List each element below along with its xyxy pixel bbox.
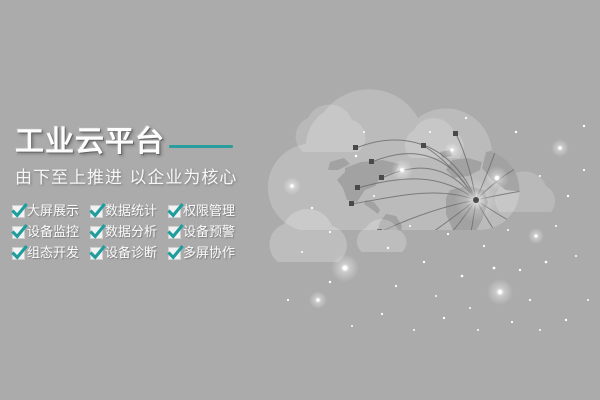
checkmark-icon: [12, 205, 25, 218]
feature-checklist: 大屏展示数据统计权限管理设备监控数据分析设备预警组态开发设备诊断多屏协作: [12, 201, 240, 264]
feature-item[interactable]: 组态开发: [12, 243, 84, 264]
network-connection-arcs: [352, 134, 548, 268]
network-node-markers: [349, 131, 550, 270]
page-title: 工业云平台: [15, 124, 165, 158]
feature-item[interactable]: 权限管理: [168, 201, 240, 222]
feature-label: 数据分析: [105, 225, 157, 240]
cloud-shapes-back: [296, 105, 555, 212]
checkmark-icon: [90, 226, 103, 239]
cloud-shape-main: [268, 89, 576, 270]
checkmark-icon: [90, 247, 103, 260]
industrial-cloud-platform-banner: 工业云平台 由下至上推进 以企业为核心 大屏展示数据统计权限管理设备监控数据分析…: [0, 0, 600, 400]
headline-row: 工业云平台: [15, 124, 233, 158]
feature-item[interactable]: 数据统计: [90, 201, 162, 222]
headline-divider: [169, 145, 233, 148]
feature-item[interactable]: 大屏展示: [12, 201, 84, 222]
checkmark-icon: [168, 205, 181, 218]
feature-item[interactable]: 数据分析: [90, 222, 162, 243]
checkmark-icon: [90, 205, 103, 218]
network-hub-glow: [454, 178, 498, 222]
checkmark-icon: [168, 247, 181, 260]
feature-label: 权限管理: [183, 204, 235, 219]
feature-item[interactable]: 设备监控: [12, 222, 84, 243]
feature-label: 多屏协作: [183, 246, 235, 261]
feature-item[interactable]: 设备预警: [168, 222, 240, 243]
feature-label: 大屏展示: [27, 204, 79, 219]
feature-label: 设备预警: [183, 225, 235, 240]
checkmark-icon: [12, 226, 25, 239]
feature-label: 数据统计: [105, 204, 157, 219]
checkmark-icon: [168, 226, 181, 239]
feature-item[interactable]: 设备诊断: [90, 243, 162, 264]
banner-content-panel: 工业云平台 由下至上推进 以企业为核心 大屏展示数据统计权限管理设备监控数据分析…: [0, 0, 300, 400]
feature-item[interactable]: 多屏协作: [168, 243, 240, 264]
world-map-landmasses: [328, 146, 576, 270]
feature-label: 设备诊断: [105, 246, 157, 261]
feature-label: 设备监控: [27, 225, 79, 240]
subtitle: 由下至上推进 以企业为核心: [15, 166, 237, 190]
world-map-network: [328, 131, 576, 270]
feature-label: 组态开发: [27, 246, 79, 261]
sparkle-particles: [283, 117, 589, 331]
checkmark-icon: [12, 247, 25, 260]
network-hub-point: [473, 197, 479, 203]
